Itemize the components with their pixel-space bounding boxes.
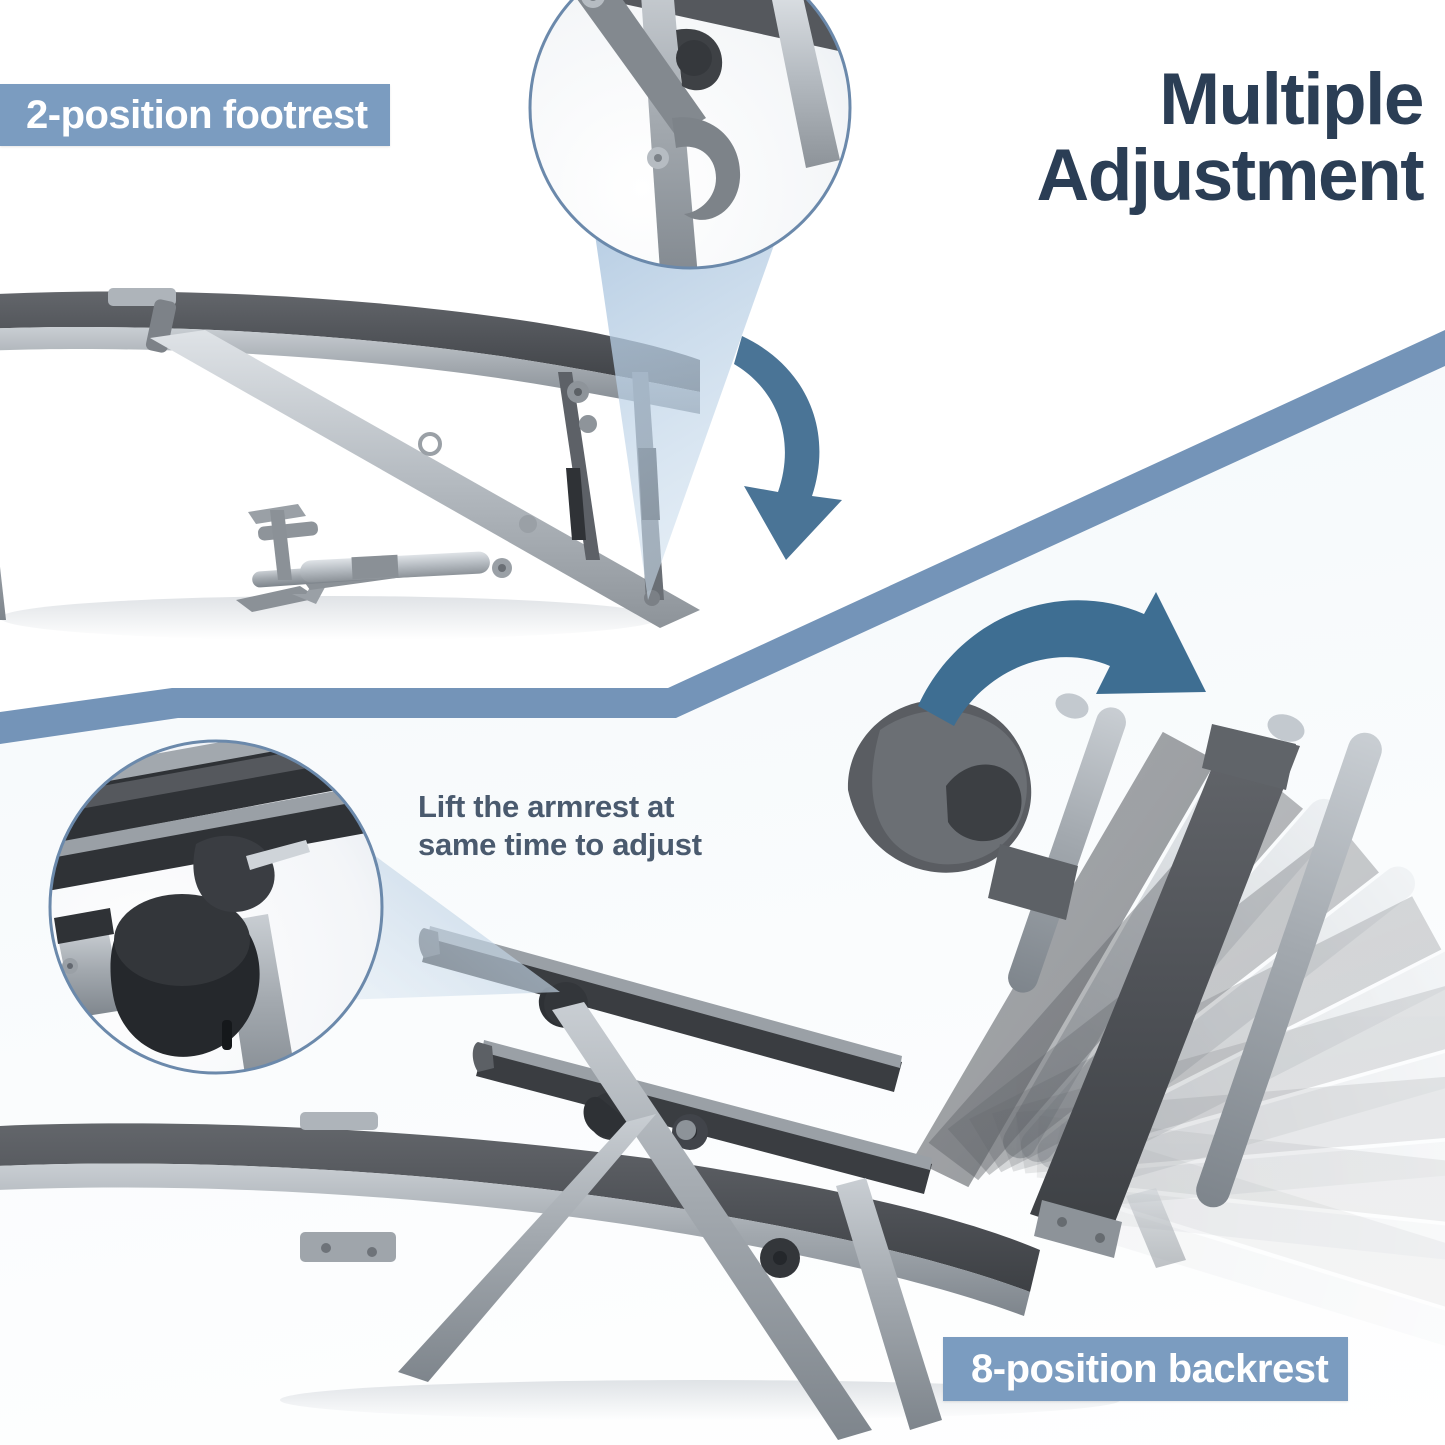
headline-line-2: Adjustment xyxy=(863,138,1423,214)
footrest-label-text: 2-position footrest xyxy=(26,93,368,138)
footrest-label-chip: 2-position footrest xyxy=(0,84,390,146)
headline-line-1: Multiple xyxy=(1159,59,1423,140)
armrest-instruction-note: Lift the armrest at same time to adjust xyxy=(418,788,838,864)
note-line-1: Lift the armrest at xyxy=(418,789,674,824)
infographic-canvas: 2-position footrest Multiple Adjustment … xyxy=(0,0,1445,1445)
backrest-label-text: 8-position backrest xyxy=(971,1347,1328,1392)
backrest-label-chip: 8-position backrest xyxy=(943,1337,1348,1401)
page-title: Multiple Adjustment xyxy=(863,62,1423,214)
note-line-2: same time to adjust xyxy=(418,826,838,864)
